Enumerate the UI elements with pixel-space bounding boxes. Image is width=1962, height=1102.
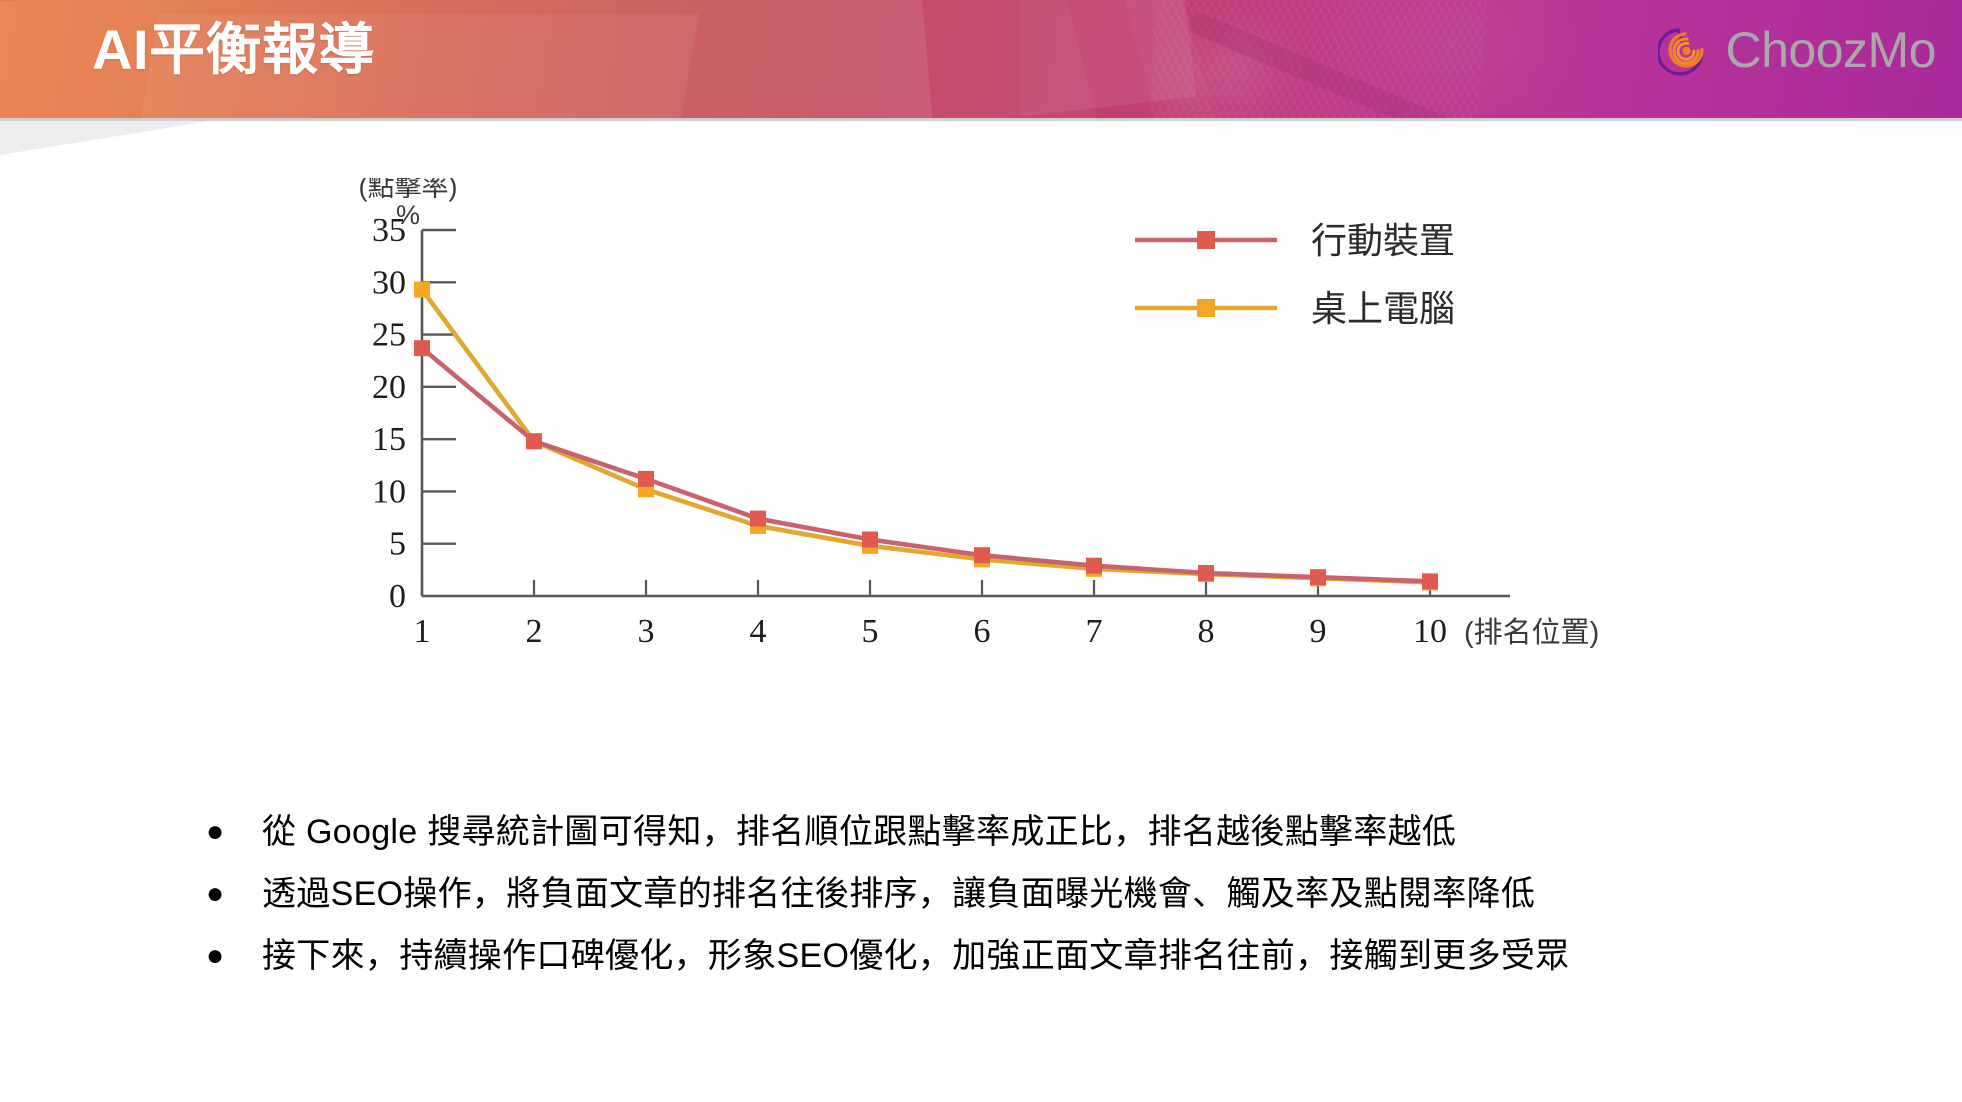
y-axis-tick-label: 30	[372, 264, 406, 301]
x-axis-tick-label: 4	[750, 613, 767, 650]
x-axis-tick-label: 7	[1086, 613, 1103, 650]
data-point-marker	[1422, 573, 1438, 589]
series-line-1	[422, 348, 1430, 581]
choozmo-logo: ChoozMo	[1658, 22, 1937, 78]
page-title: AI平衡報導	[92, 18, 375, 82]
y-axis-tick-label: 0	[389, 578, 406, 615]
x-axis-tick-label: 8	[1198, 613, 1215, 650]
bullet-text: 從 Google 搜尋統計圖可得知，排名順位跟點擊率成正比，排名越後點擊率越低	[262, 808, 1456, 856]
bullet-marker-icon: ●	[200, 870, 262, 918]
x-axis-tick-label: 2	[526, 613, 543, 650]
y-axis-tick-label: 20	[372, 369, 406, 406]
data-point-marker	[414, 282, 430, 298]
data-point-marker	[862, 532, 878, 548]
y-axis-tick-label: 10	[372, 473, 406, 510]
data-point-marker	[1086, 558, 1102, 574]
data-point-marker	[1310, 569, 1326, 585]
x-axis-tick-label: 5	[862, 613, 879, 650]
data-point-marker	[750, 511, 766, 527]
header-corner-accent	[0, 121, 210, 155]
slide-header-banner: AI平衡報導 ChoozMo	[0, 0, 1962, 118]
data-point-marker	[526, 433, 542, 449]
bullet-marker-icon: ●	[200, 932, 262, 980]
bullet-text: 接下來，持續操作口碑優化，形象SEO優化，加強正面文章排名往前，接觸到更多受眾	[262, 932, 1570, 980]
list-item: ● 接下來，持續操作口碑優化，形象SEO優化，加強正面文章排名往前，接觸到更多受…	[200, 932, 1840, 980]
slide: AI平衡報導 ChoozMo (點擊率)%0510152025303512345…	[0, 0, 1962, 1102]
x-axis-tick-label: 10	[1413, 613, 1447, 650]
y-axis-tick-label: 25	[372, 317, 406, 354]
legend-label-2: 桌上電腦	[1311, 288, 1455, 329]
list-item: ● 透過SEO操作，將負面文章的排名往後排序，讓負面曝光機會、觸及率及點閱率降低	[200, 870, 1840, 918]
header-divider	[0, 118, 1962, 121]
data-point-marker	[974, 547, 990, 563]
data-point-marker	[1198, 565, 1214, 581]
y-axis-label-line1: (點擊率)	[359, 178, 458, 202]
chart-canvas: (點擊率)%0510152025303512345678910(排名位置)行動裝…	[330, 178, 1610, 778]
x-axis-tick-label: 3	[638, 613, 655, 650]
data-point-marker	[414, 340, 430, 356]
bullet-marker-icon: ●	[200, 808, 262, 856]
legend-label-1: 行動裝置	[1311, 220, 1455, 261]
x-axis-label: (排名位置)	[1464, 616, 1599, 649]
y-axis-tick-label: 5	[389, 526, 406, 563]
bullet-list: ● 從 Google 搜尋統計圖可得知，排名順位跟點擊率成正比，排名越後點擊率越…	[200, 808, 1840, 994]
data-point-marker	[638, 471, 654, 487]
legend-marker-1	[1197, 231, 1215, 249]
spiral-target-icon	[1658, 22, 1714, 78]
series-line-2	[422, 290, 1430, 583]
x-axis-tick-label: 9	[1310, 613, 1327, 650]
x-axis-tick-label: 6	[974, 613, 991, 650]
list-item: ● 從 Google 搜尋統計圖可得知，排名順位跟點擊率成正比，排名越後點擊率越…	[200, 808, 1840, 856]
brand-name: ChoozMo	[1726, 25, 1937, 75]
x-axis-tick-label: 1	[414, 613, 431, 650]
y-axis-tick-label: 35	[372, 212, 406, 249]
y-axis-tick-label: 15	[372, 421, 406, 458]
bullet-text: 透過SEO操作，將負面文章的排名往後排序，讓負面曝光機會、觸及率及點閱率降低	[262, 870, 1535, 918]
legend-marker-2	[1197, 299, 1215, 317]
ctr-by-rank-chart: (點擊率)%0510152025303512345678910(排名位置)行動裝…	[330, 178, 1610, 778]
